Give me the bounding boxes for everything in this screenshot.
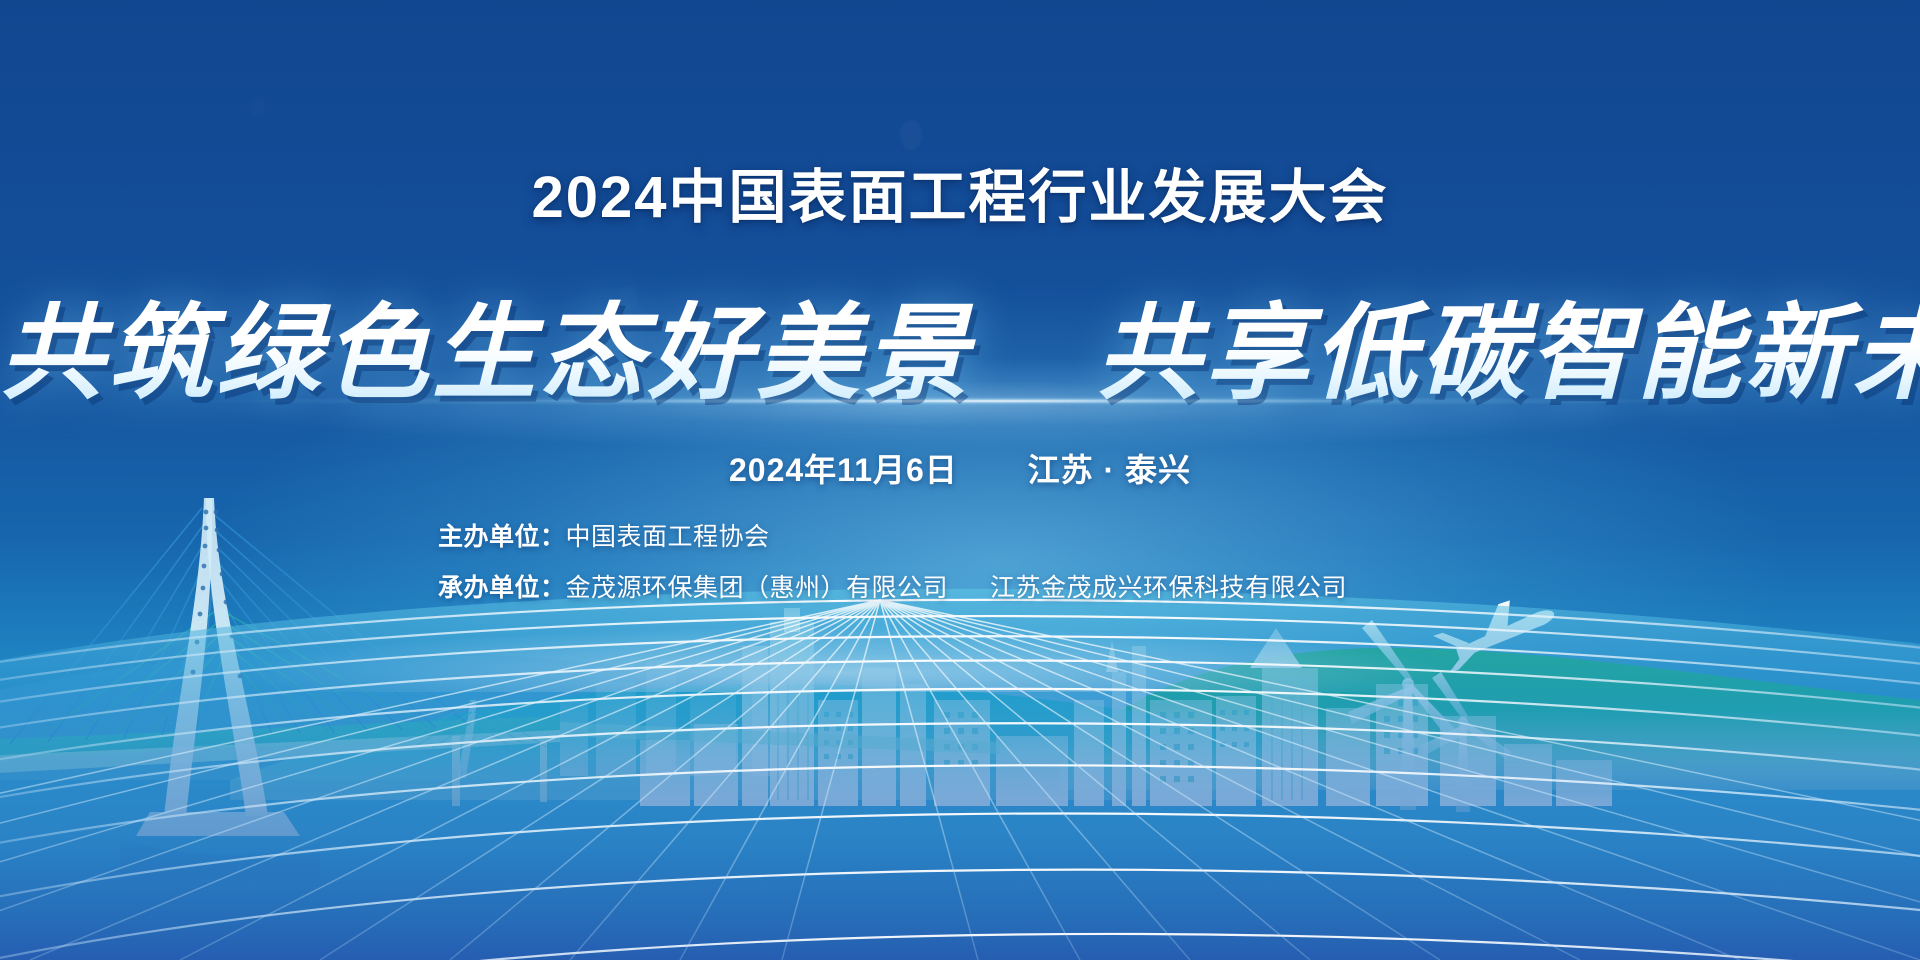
conference-location: 江苏 · 泰兴 xyxy=(1028,452,1191,488)
host-value: 中国表面工程协会 xyxy=(566,525,770,550)
host-label: 主办单位： xyxy=(438,525,566,550)
coorganizer-value-2: 江苏金茂成兴环保科技有限公司 xyxy=(990,576,1347,601)
organizer-row-coorganizer: 承办单位： 金茂源环保集团（惠州）有限公司 江苏金茂成兴环保科技有限公司 xyxy=(438,576,1347,601)
slogan-part-2: 共享低碳智能新未来 xyxy=(1096,291,1920,414)
conference-title: 2024中国表面工程行业发展大会 xyxy=(0,150,1920,234)
conference-slogan: 共筑绿色生态好美景 共享低碳智能新未来 xyxy=(0,268,1920,419)
coorganizer-label: 承办单位： xyxy=(438,576,566,601)
organizer-row-host: 主办单位： 中国表面工程协会 xyxy=(438,525,1347,550)
organizer-block: 主办单位： 中国表面工程协会 承办单位： 金茂源环保集团（惠州）有限公司 江苏金… xyxy=(438,525,1347,627)
text-layer: 2024中国表面工程行业发展大会 共筑绿色生态好美景 共享低碳智能新未来 202… xyxy=(0,0,1920,960)
coorganizer-value-1: 金茂源环保集团（惠州）有限公司 xyxy=(566,576,949,601)
conference-date: 2024年11月6日 xyxy=(729,452,958,488)
date-location-line: 2024年11月6日 江苏 · 泰兴 xyxy=(0,445,1920,491)
conference-banner: 2024中国表面工程行业发展大会 共筑绿色生态好美景 共享低碳智能新未来 202… xyxy=(0,0,1920,960)
slogan-part-1: 共筑绿色生态好美景 xyxy=(0,291,972,414)
